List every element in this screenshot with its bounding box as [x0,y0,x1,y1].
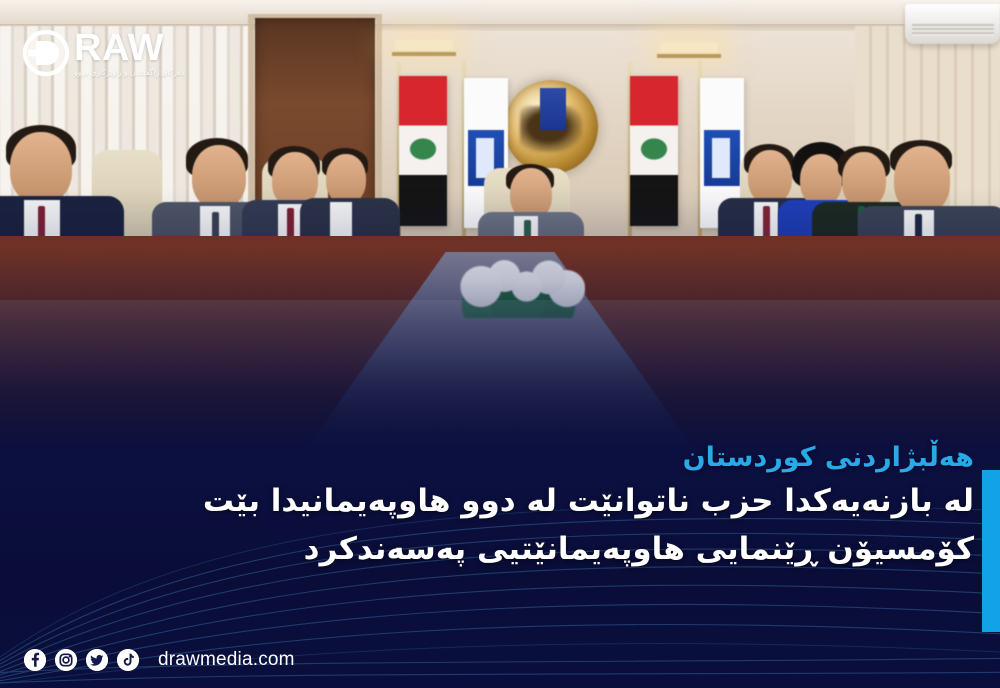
headline-block: هەڵبژاردنی کوردستان لە بازنەیەکدا حزب نا… [0,440,1000,572]
footer-bar: drawmedia.com [24,646,295,674]
facebook-icon[interactable] [24,649,46,671]
headline-line-3: کۆمسیۆن ڕێنمایی هاوپەیمانێتیی پەسەندکرد [0,527,974,572]
draw-media-logo[interactable]: RAW دەزگای راگەیاندن و راوێژکاری دروو [22,24,232,82]
website-url[interactable]: drawmedia.com [158,649,295,671]
social-media-news-card: RAW دەزگای راگەیاندن و راوێژکاری دروو هە… [0,0,1000,688]
logo-subtitle: دەزگای راگەیاندن و راوێژکاری دروو [74,69,184,77]
headline-line-2: لە بازنەیەکدا حزب ناتوانێت لە دوو هاوپەی… [0,479,974,524]
d-circle-logo-icon [22,29,70,77]
headline-kicker: هەڵبژاردنی کوردستان [0,440,974,476]
logo-wordmark: RAW [74,29,184,67]
tiktok-icon[interactable] [117,649,139,671]
twitter-icon[interactable] [86,649,108,671]
instagram-icon[interactable] [55,649,77,671]
accent-bar [982,470,1000,632]
